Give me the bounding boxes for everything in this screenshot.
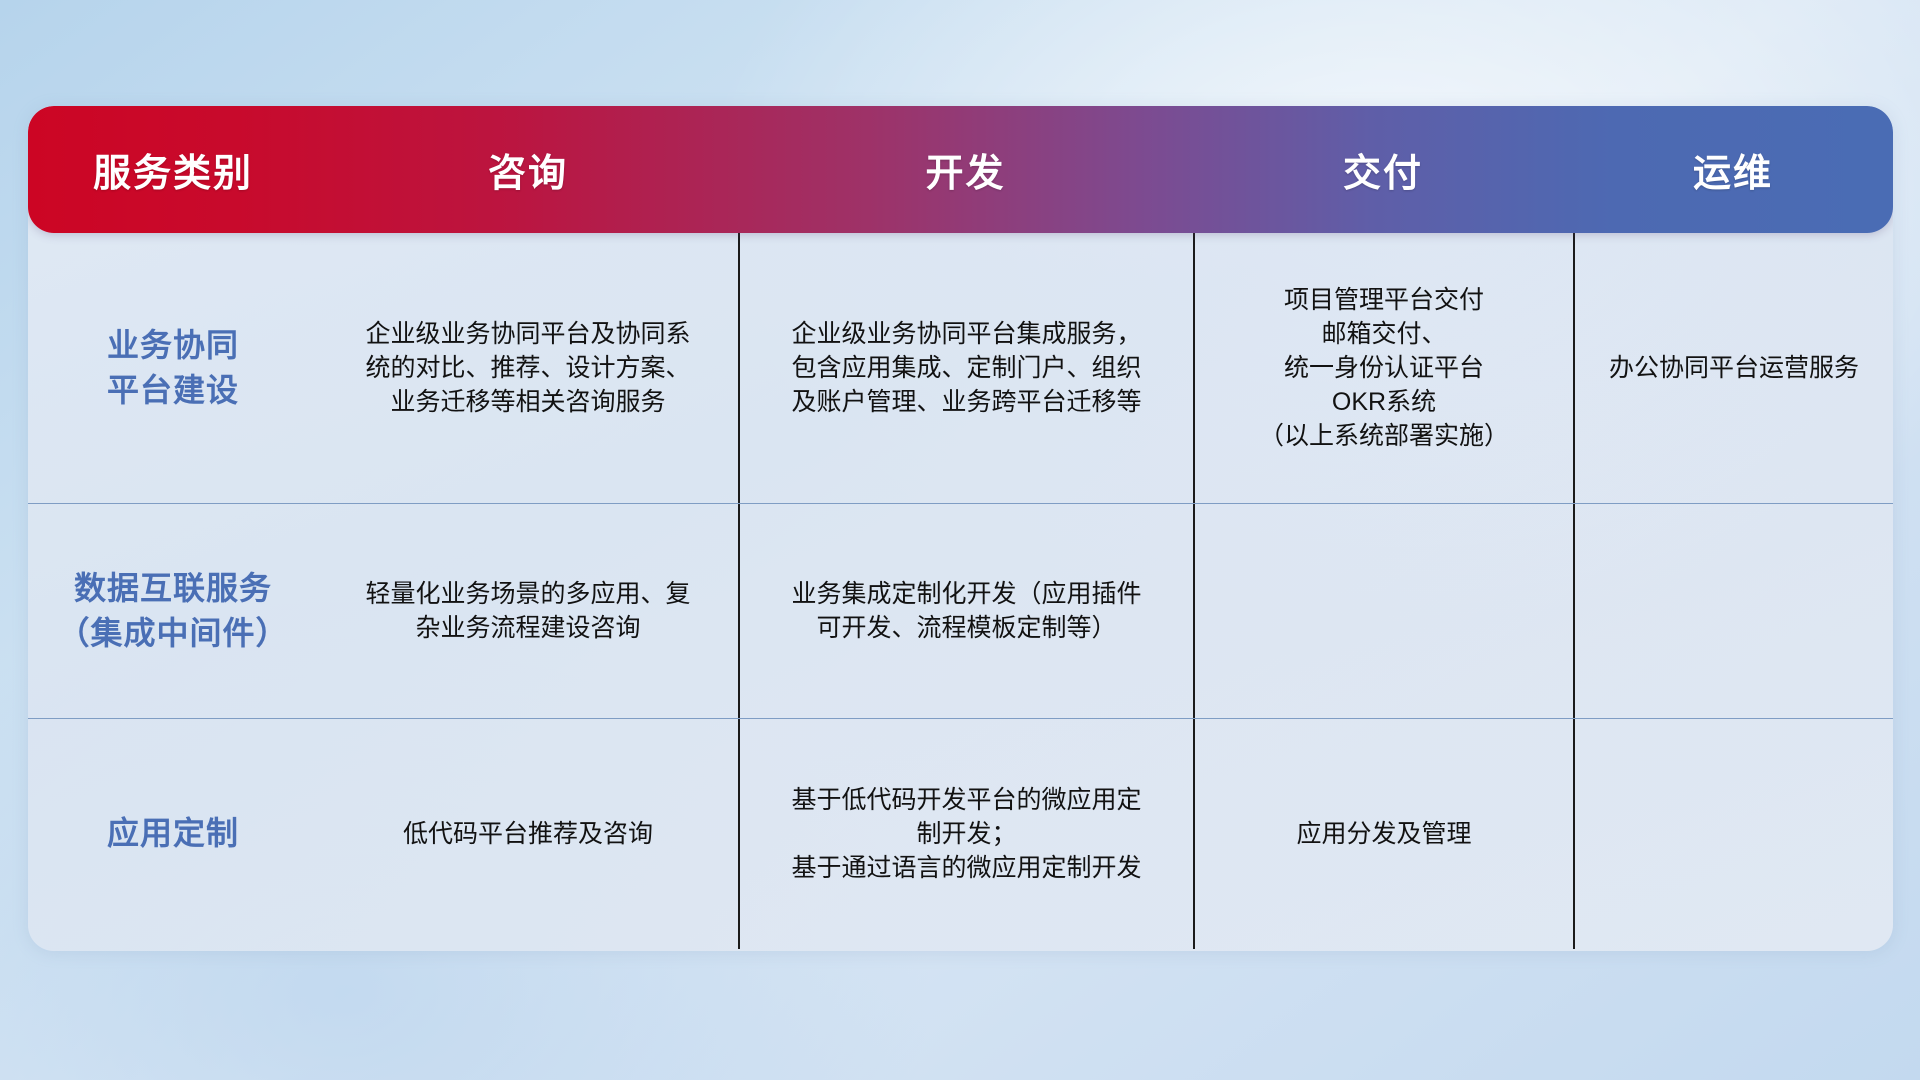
cell-development: 业务集成定制化开发（应用插件 可开发、流程模板定制等） [738,504,1193,718]
table-panel: 服务类别 咨询 开发 交付 运维 业务协同 平台建设 企业级业务协同平台及协同系… [28,106,1893,951]
cell-consulting: 企业级业务协同平台及协同系 统的对比、推荐、设计方案、 业务迁移等相关咨询服务 [318,233,738,503]
row-category-label: 数据互联服务 （集成中间件） [28,504,318,718]
column-header-operations: 运维 [1573,142,1893,197]
cell-development: 企业级业务协同平台集成服务， 包含应用集成、定制门户、组织 及账户管理、业务跨平… [738,233,1193,503]
table-header-row: 服务类别 咨询 开发 交付 运维 [28,106,1893,233]
column-header-development: 开发 [738,142,1193,197]
table-row: 应用定制 低代码平台推荐及咨询 基于低代码开发平台的微应用定 制开发； 基于通过… [28,718,1893,949]
column-header-delivery: 交付 [1193,142,1573,197]
cell-operations: 办公协同平台运营服务 [1573,233,1893,503]
cell-operations [1573,719,1893,949]
service-matrix-table: 服务类别 咨询 开发 交付 运维 业务协同 平台建设 企业级业务协同平台及协同系… [28,106,1893,951]
cell-consulting: 轻量化业务场景的多应用、复 杂业务流程建设咨询 [318,504,738,718]
cell-delivery: 项目管理平台交付 邮箱交付、 统一身份认证平台 OKR系统 （以上系统部署实施） [1193,233,1573,503]
row-category-label: 应用定制 [28,719,318,949]
cell-operations [1573,504,1893,718]
cell-consulting: 低代码平台推荐及咨询 [318,719,738,949]
cell-development: 基于低代码开发平台的微应用定 制开发； 基于通过语言的微应用定制开发 [738,719,1193,949]
row-category-label: 业务协同 平台建设 [28,233,318,503]
cell-delivery [1193,504,1573,718]
table-row: 业务协同 平台建设 企业级业务协同平台及协同系 统的对比、推荐、设计方案、 业务… [28,233,1893,503]
column-header-consulting: 咨询 [318,142,738,197]
cell-delivery: 应用分发及管理 [1193,719,1573,949]
table-row: 数据互联服务 （集成中间件） 轻量化业务场景的多应用、复 杂业务流程建设咨询 业… [28,503,1893,718]
table-body: 业务协同 平台建设 企业级业务协同平台及协同系 统的对比、推荐、设计方案、 业务… [28,233,1893,951]
column-header-category: 服务类别 [28,142,318,197]
